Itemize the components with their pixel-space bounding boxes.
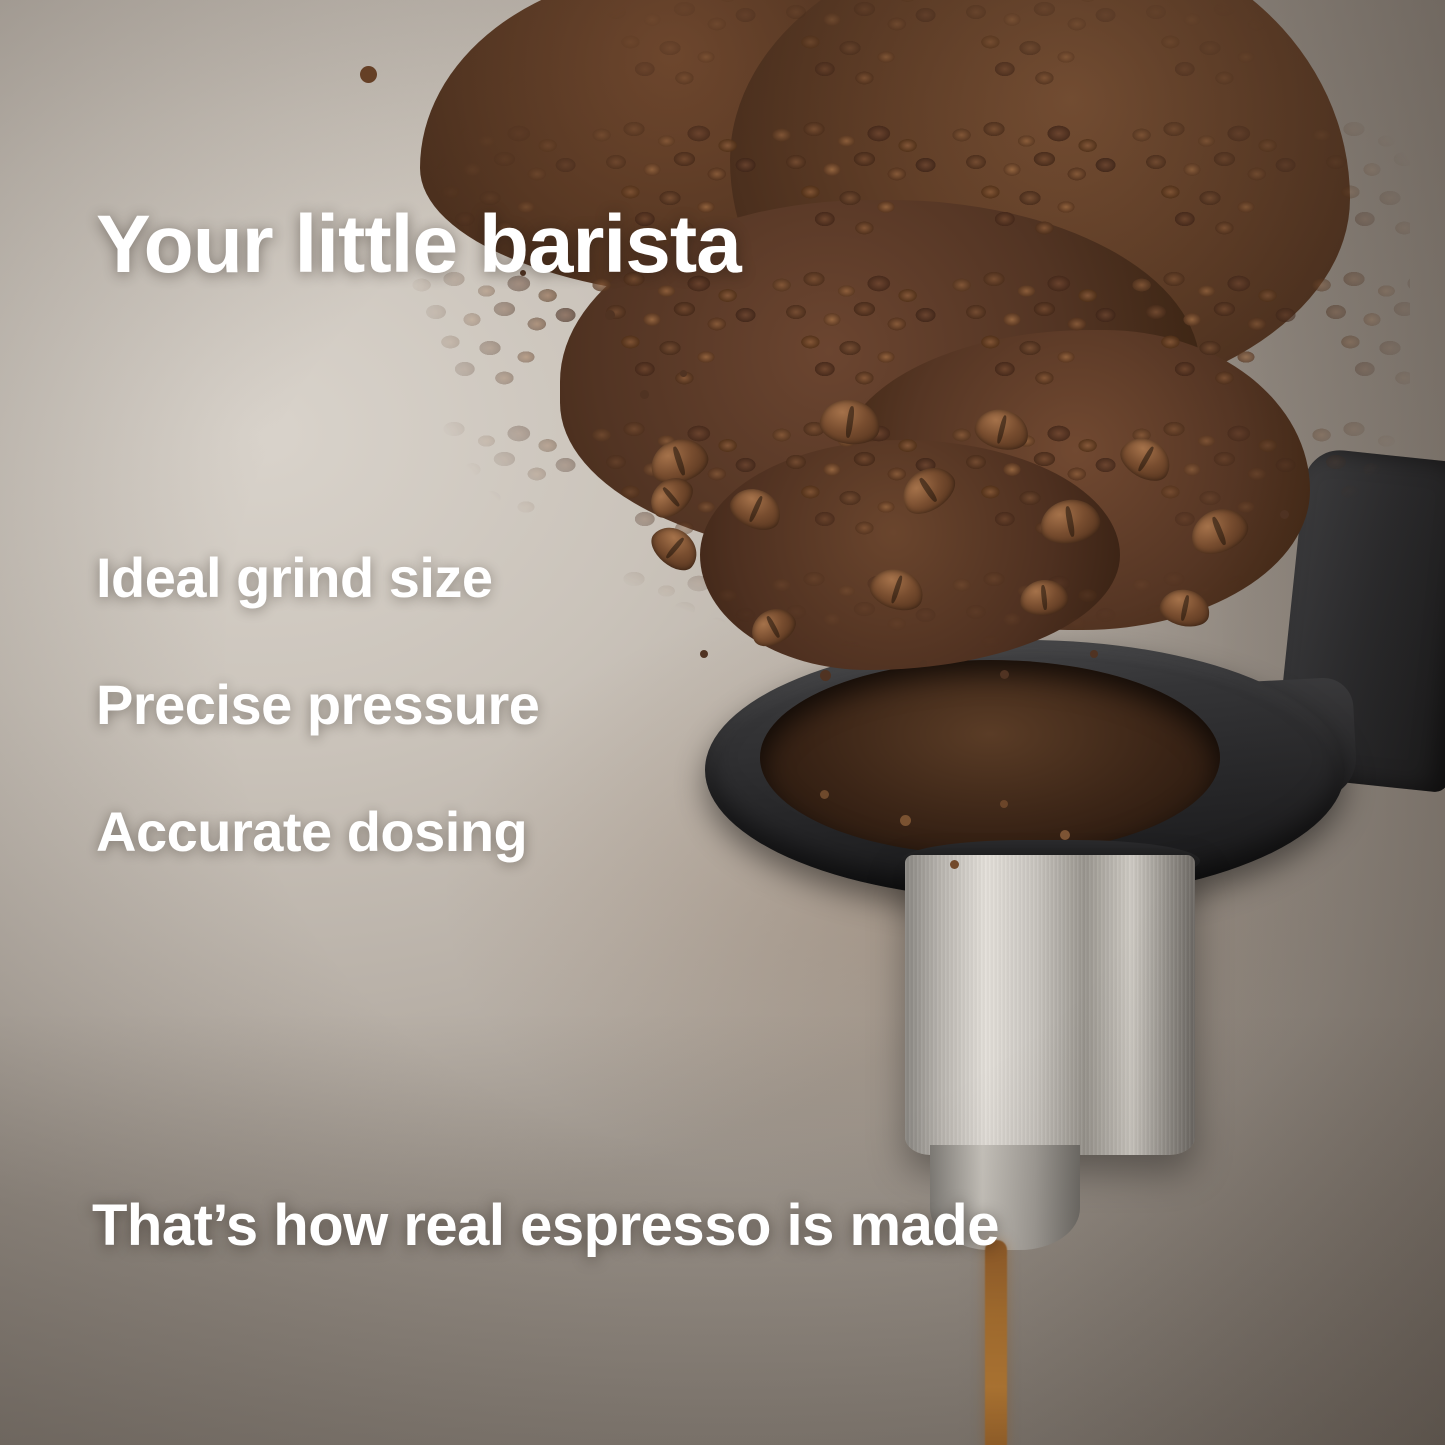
page-title: Your little barista xyxy=(96,198,741,292)
product-poster: Your little barista Ideal grind size Pre… xyxy=(0,0,1445,1445)
feature-item-grind-size: Ideal grind size xyxy=(96,545,736,610)
feature-list: Ideal grind size Precise pressure Accura… xyxy=(96,545,736,926)
tagline: That’s how real espresso is made xyxy=(92,1192,999,1259)
feature-item-pressure: Precise pressure xyxy=(96,672,736,737)
feature-item-dosing: Accurate dosing xyxy=(96,799,736,864)
